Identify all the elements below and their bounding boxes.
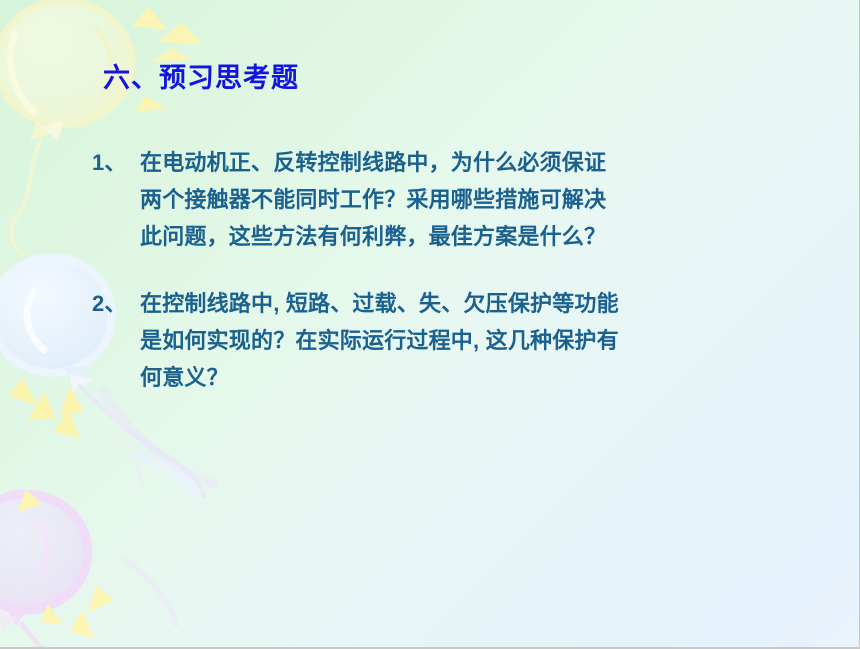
confetti-triangles-icon-3: [40, 586, 114, 638]
question-1-number: 1、: [92, 144, 140, 181]
ribbon-string-icon-2: [124, 560, 176, 624]
question-2-number: 2、: [92, 285, 140, 322]
question-item-1: 1、 在电动机正、反转控制线路中，为什么必须保证 两个接触器不能同时工作？采用哪…: [92, 144, 792, 255]
question-1-line-2: 两个接触器不能同时工作？采用哪些措施可解决: [140, 181, 792, 218]
confetti-triangles-icon-4: [18, 490, 42, 512]
ribbon-string-icon: [104, 392, 214, 484]
confetti-triangles-icon-2: [8, 378, 84, 438]
question-2-line-2: 是如何实现的？在实际运行过程中, 这几种保护有: [140, 322, 792, 359]
page-title: 六、预习思考题: [103, 56, 299, 95]
question-1-body: 在电动机正、反转控制线路中，为什么必须保证 两个接触器不能同时工作？采用哪些措施…: [140, 144, 792, 255]
question-1-line-3: 此问题，这些方法有何利弊，最佳方案是什么？: [140, 218, 792, 255]
question-1-line-1: 在电动机正、反转控制线路中，为什么必须保证: [140, 144, 792, 181]
question-item-2: 2、 在控制线路中, 短路、过载、失、欠压保护等功能 是如何实现的？在实际运行过…: [92, 285, 792, 396]
balloon-pink-icon: [0, 494, 88, 649]
question-2-body: 在控制线路中, 短路、过载、失、欠压保护等功能 是如何实现的？在实际运行过程中,…: [140, 285, 792, 396]
presentation-slide: 六、预习思考题 1、 在电动机正、反转控制线路中，为什么必须保证 两个接触器不能…: [0, 0, 860, 649]
ribbon-streak-icon: [140, 456, 196, 492]
question-2-line-3: 何意义？: [140, 359, 792, 396]
question-2-line-1: 在控制线路中, 短路、过载、失、欠压保护等功能: [140, 285, 792, 322]
